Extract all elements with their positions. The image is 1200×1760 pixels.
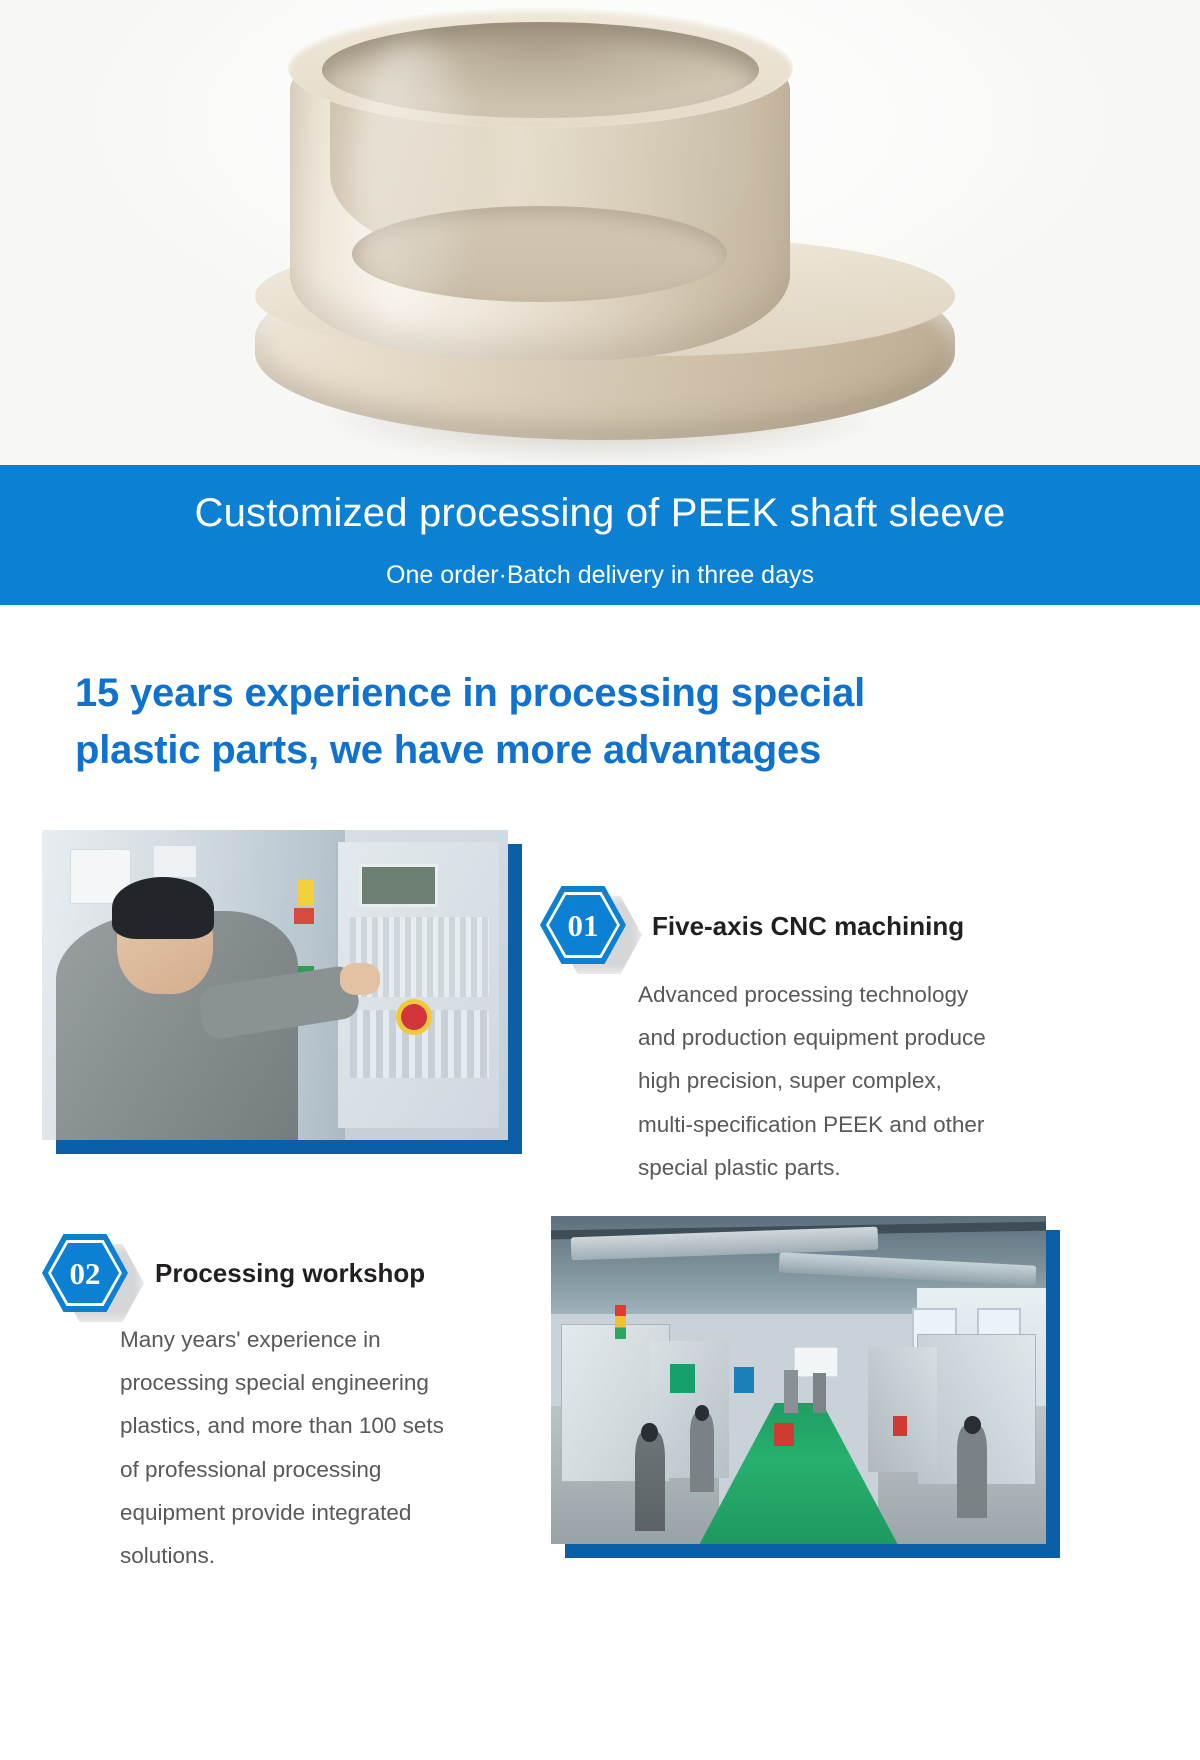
product-detail-page: Customized processing of PEEK shaft slee…	[0, 0, 1200, 1760]
feature-body-line: processing special engineering	[120, 1361, 540, 1404]
product-highlight	[352, 40, 472, 320]
feature-body-line: special plastic parts.	[638, 1146, 1078, 1189]
feature-body-line: plastics, and more than 100 sets	[120, 1404, 540, 1447]
feature-title-01: Five-axis CNC machining	[652, 913, 964, 939]
section-heading-line-1: 15 years experience in processing specia…	[75, 665, 1085, 722]
badge-number-01: 01	[568, 910, 599, 941]
feature-body-line: and production equipment produce	[638, 1016, 1078, 1059]
feature-body-line: Advanced processing technology	[638, 973, 1078, 1016]
hero-banner: Customized processing of PEEK shaft slee…	[0, 465, 1200, 605]
feature-body-02: Many years' experience in processing spe…	[120, 1318, 540, 1577]
feature-title-02: Processing workshop	[155, 1260, 425, 1286]
hero-product-photo	[0, 0, 1200, 470]
badge-number-02: 02	[70, 1258, 101, 1289]
feature-body-line: of professional processing	[120, 1448, 540, 1491]
feature-badge-02: 02	[42, 1234, 128, 1312]
feature-badge-01: 01	[540, 886, 626, 964]
feature-body-line: Many years' experience in	[120, 1318, 540, 1361]
feature-body-line: equipment provide integrated	[120, 1491, 540, 1534]
feature-body-line: multi-specification PEEK and other	[638, 1103, 1078, 1146]
feature-body-line: high precision, super complex,	[638, 1059, 1078, 1102]
section-heading: 15 years experience in processing specia…	[75, 665, 1085, 779]
photo-workshop-image	[551, 1216, 1046, 1544]
photo-cnc-image	[42, 830, 508, 1140]
feature-body-01: Advanced processing technology and produ…	[638, 973, 1078, 1189]
feature-photo-workshop	[551, 1216, 1046, 1544]
banner-subtitle: One order·Batch delivery in three days	[0, 533, 1200, 588]
feature-body-line: solutions.	[120, 1534, 540, 1577]
section-heading-line-2: plastic parts, we have more advantages	[75, 722, 1085, 779]
banner-title: Customized processing of PEEK shaft slee…	[0, 465, 1200, 533]
feature-photo-cnc	[42, 830, 508, 1140]
